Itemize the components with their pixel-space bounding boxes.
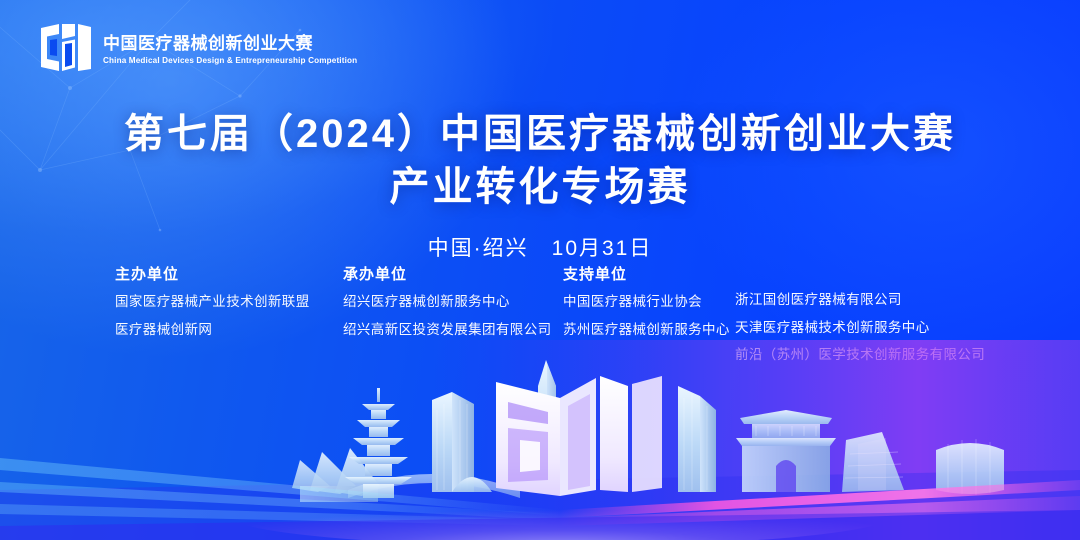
landmark-chinese-gate xyxy=(736,410,836,492)
organizer-heading: 主办单位 xyxy=(115,263,310,284)
organizer-heading: 支持单位 xyxy=(563,263,730,284)
landmark-pagoda xyxy=(345,388,412,498)
organizer-item: 绍兴高新区投资发展集团有限公司 xyxy=(343,323,552,337)
organizer-item: 天津医疗器械技术创新服务中心 xyxy=(735,321,985,335)
organizer-item: 国家医疗器械产业技术创新联盟 xyxy=(115,295,310,309)
organizer-item: 绍兴医疗器械创新服务中心 xyxy=(343,295,552,309)
organizer-column-host: 主办单位 国家医疗器械产业技术创新联盟 医疗器械创新网 xyxy=(115,263,310,350)
logo-text-block: 中国医疗器械创新创业大赛 China Medical Devices Desig… xyxy=(103,31,368,65)
event-title-line1: 第七届（2024）中国医疗器械创新创业大赛 xyxy=(0,110,1080,159)
landmark-twin-tower xyxy=(432,392,474,492)
organizer-item: 浙江国创医疗器械有限公司 xyxy=(735,293,985,307)
event-banner: 中国医疗器械创新创业大赛 China Medical Devices Desig… xyxy=(0,0,1080,540)
event-title-line2: 产业转化专场赛 xyxy=(0,163,1080,212)
title-block: 第七届（2024）中国医疗器械创新创业大赛 产业转化专场赛 中国·绍兴 10月3… xyxy=(0,110,1080,262)
organizer-column-organizer: 承办单位 绍兴医疗器械创新服务中心 绍兴高新区投资发展集团有限公司 xyxy=(343,263,552,350)
cmdc-logo-icon xyxy=(38,22,92,74)
organizer-item: 苏州医疗器械创新服务中心 xyxy=(563,323,730,337)
organizer-item: 中国医疗器械行业协会 xyxy=(563,295,730,309)
logo-title-en: China Medical Devices Design & Entrepren… xyxy=(103,56,357,65)
header-logo: 中国医疗器械创新创业大赛 China Medical Devices Desig… xyxy=(38,22,368,74)
event-location-date: 中国·绍兴 10月31日 xyxy=(0,232,1080,262)
logo-title-cn: 中国医疗器械创新创业大赛 xyxy=(103,35,368,53)
city-skyline-illustration xyxy=(0,340,1080,540)
organizer-item: 医疗器械创新网 xyxy=(115,323,310,337)
organizer-column-support: 支持单位 中国医疗器械行业协会 苏州医疗器械创新服务中心 xyxy=(563,263,730,350)
organizer-heading: 承办单位 xyxy=(343,263,552,284)
logo-monument xyxy=(496,376,662,496)
